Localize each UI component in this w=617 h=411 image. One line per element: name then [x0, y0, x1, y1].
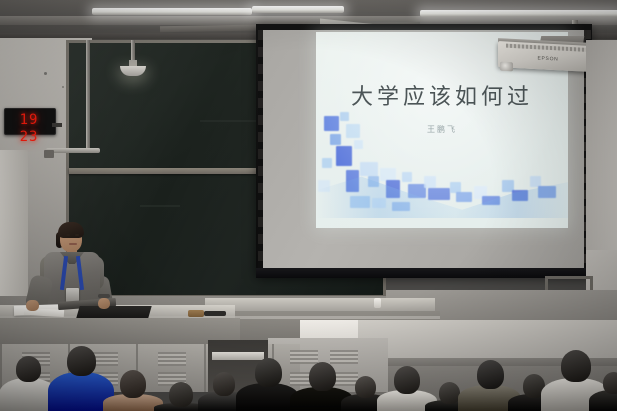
presenter-left-hand — [26, 300, 39, 311]
audience-head — [213, 372, 235, 396]
audience-member — [468, 360, 512, 411]
audience-head — [603, 372, 617, 394]
audience-head — [169, 382, 193, 407]
clock-time-display: 19 23 — [7, 112, 51, 129]
desk-object-dark — [204, 311, 226, 316]
audience-head — [394, 366, 420, 394]
desk-surface-right — [205, 298, 435, 312]
lamp-fixture-left — [44, 150, 54, 158]
ceiling-pipe-middle — [131, 40, 135, 62]
projector-lens — [500, 62, 513, 72]
presenter-hair — [58, 222, 84, 238]
presenter-mouth — [69, 243, 77, 245]
classroom-scene: 19 23 大学应该如何过 王鹏飞 EPSON — [0, 0, 617, 411]
screen-support-bar — [545, 276, 593, 279]
locker-vent — [158, 352, 186, 366]
screen-frame-tabs-left — [258, 30, 263, 270]
presenter-right-hand — [98, 298, 110, 309]
audience-head — [120, 370, 146, 398]
audience-head — [67, 346, 96, 376]
audience-member — [58, 346, 104, 411]
clock-mount-bracket — [52, 123, 62, 127]
slide-title: 大学应该如何过 — [316, 79, 568, 111]
fluorescent-tube-left — [92, 8, 252, 15]
fluorescent-tube-middle — [252, 6, 344, 13]
projector-brand-label: EPSON — [532, 54, 564, 64]
audience-member — [300, 362, 344, 411]
audience-head — [561, 350, 591, 382]
presenter-eye — [75, 234, 79, 236]
wall-mark — [44, 72, 47, 75]
wall-mark — [62, 86, 64, 88]
audience-member — [8, 356, 48, 411]
lamp-arm-left — [46, 148, 100, 153]
audience-member — [386, 366, 428, 411]
audience-member — [596, 372, 617, 411]
laptop-base — [76, 306, 151, 318]
audience-head — [309, 362, 336, 391]
presenter-eye — [66, 234, 70, 236]
screen-bottom-bar — [256, 268, 592, 278]
left-wall-door — [0, 150, 28, 318]
audience-head — [477, 360, 504, 389]
fluorescent-tube-right — [420, 10, 617, 17]
slide-subtitle-author: 王鹏飞 — [316, 124, 568, 135]
audience-head — [355, 376, 376, 398]
audience-head — [439, 382, 460, 404]
audience-member — [112, 370, 154, 411]
desk-object-wooden — [188, 310, 204, 317]
desk-object-white — [374, 298, 381, 308]
audience-member — [162, 382, 200, 411]
audience-member — [246, 358, 290, 411]
locker-divider — [0, 344, 2, 392]
ceiling-pipe-left — [86, 40, 90, 152]
audience-head — [255, 358, 282, 387]
audience-head — [16, 356, 41, 382]
